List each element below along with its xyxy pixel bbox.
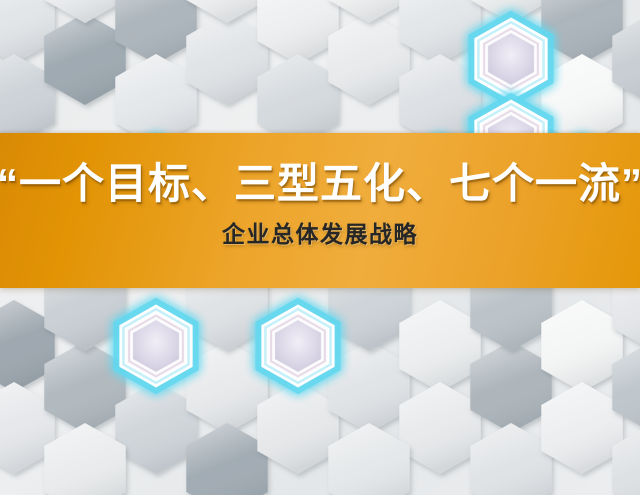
background-hexagon [541,300,622,392]
background-hexagon [44,13,125,105]
background-hexagon [186,0,267,23]
background-hexagon [257,382,338,474]
background-hexagon [541,382,622,474]
title-slide: “一个目标、三型五化、七个一流” 企业总体发展战略 [0,0,640,495]
title-banner: “一个目标、三型五化、七个一流” 企业总体发展战略 [0,133,640,288]
background-hexagon [399,382,480,474]
glowing-hexagon [259,302,337,390]
background-hexagon [44,423,125,495]
background-hexagon [470,341,551,433]
background-hexagon [186,13,267,105]
background-hexagon [328,423,409,495]
page-subtitle: 企业总体发展战略 [222,223,418,246]
background-hexagon [399,300,480,392]
background-hexagon [470,423,551,495]
background-hexagon [186,423,267,495]
background-hexagon [328,13,409,105]
glowing-hexagon [117,302,195,390]
glowing-hexagon [472,15,550,103]
page-title: “一个目标、三型五化、七个一流” [0,163,640,205]
background-hexagon [44,0,125,23]
background-hexagon [115,382,196,474]
background-hexagon [328,0,409,23]
banner-content: “一个目标、三型五化、七个一流” 企业总体发展战略 [0,133,640,288]
